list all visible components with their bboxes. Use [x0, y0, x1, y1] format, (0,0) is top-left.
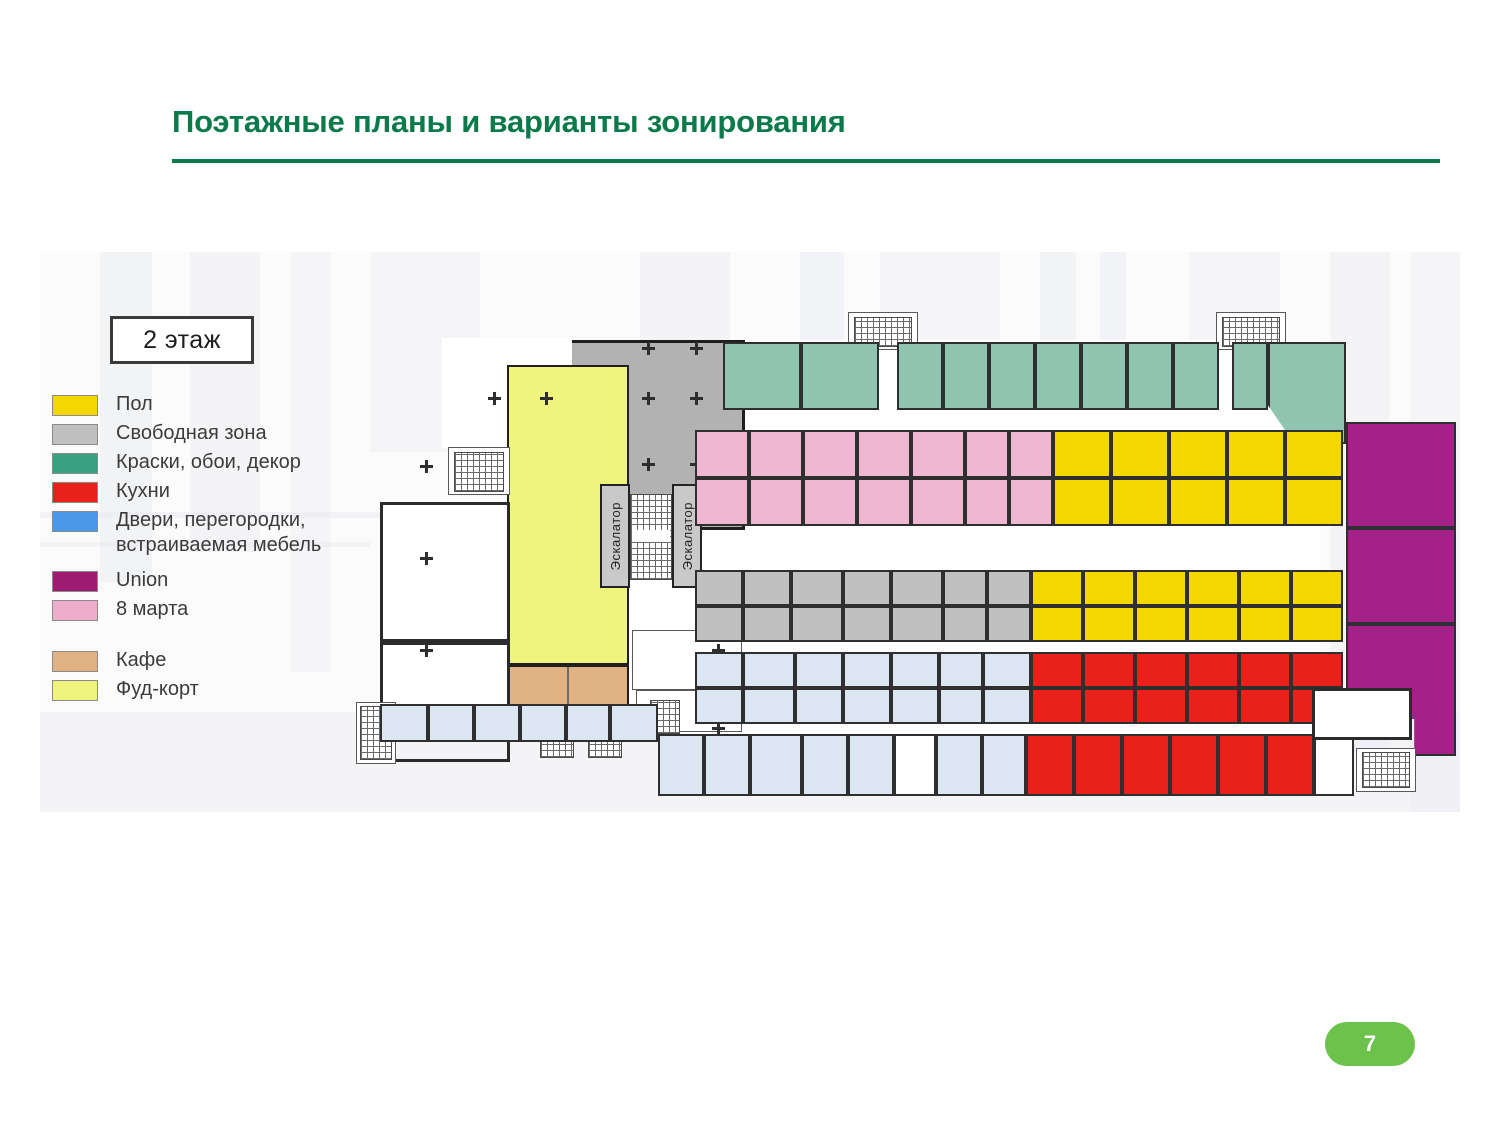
- unit-kraski[interactable]: [1173, 342, 1219, 410]
- unit-dveri[interactable]: [610, 704, 658, 742]
- escalator-2-label: Эскалатор: [680, 502, 695, 570]
- legend-divider-gap: [52, 626, 362, 648]
- legend-label-dveri: Двери, перегородки, встраиваемая мебель: [116, 508, 354, 558]
- unit-kraski[interactable]: [1127, 342, 1173, 410]
- unit-pol[interactable]: [1111, 478, 1169, 526]
- unit-kuhni[interactable]: [1291, 652, 1343, 688]
- unit-8marta[interactable]: [695, 478, 749, 526]
- legend-label-svobodnaya-zona: Свободная зона: [116, 421, 267, 446]
- unit-svobodnaya[interactable]: [695, 606, 743, 642]
- unit-kraski[interactable]: [1035, 342, 1081, 410]
- legend-label-kraski: Краски, обои, декор: [116, 450, 301, 475]
- legend-swatch-dveri: [52, 511, 98, 532]
- legend-swatch-8marta: [52, 600, 98, 621]
- column-marker: [642, 392, 655, 405]
- column-marker: [420, 644, 433, 657]
- unit-kuhni[interactable]: [1026, 734, 1074, 796]
- unit-8marta[interactable]: [965, 430, 1009, 478]
- unit-pol[interactable]: [1187, 570, 1239, 606]
- legend-item-dveri: Двери, перегородки, встраиваемая мебель: [52, 508, 362, 558]
- unit-kuhni[interactable]: [1266, 734, 1314, 796]
- column-marker: [488, 392, 501, 405]
- unit-svobodnaya[interactable]: [695, 570, 743, 606]
- unit-svobodnaya[interactable]: [791, 606, 843, 642]
- legend: Пол Свободная зона Краски, обои, декор К…: [52, 392, 362, 706]
- page-title: Поэтажные планы и варианты зонирования: [172, 104, 846, 140]
- escalator-landing: [632, 530, 670, 542]
- legend-item-8marta: 8 марта: [52, 597, 362, 622]
- unit-svobodnaya[interactable]: [743, 606, 791, 642]
- bottom-right-service-block: [1312, 688, 1412, 740]
- unit-kraski[interactable]: [801, 342, 879, 410]
- unit-dveri[interactable]: [750, 734, 802, 796]
- unit-svobodnaya[interactable]: [891, 570, 943, 606]
- unit-pol[interactable]: [1053, 430, 1111, 478]
- legend-item-union: Union: [52, 568, 362, 593]
- unit-dveri[interactable]: [743, 688, 795, 724]
- column-marker: [690, 392, 703, 405]
- unit-8marta[interactable]: [803, 430, 857, 478]
- unit-8marta[interactable]: [911, 478, 965, 526]
- unit-8marta[interactable]: [1009, 430, 1053, 478]
- unit-kuhni[interactable]: [1170, 734, 1218, 796]
- escalator-1: Эскалатор: [600, 484, 630, 588]
- unit-vacant-white[interactable]: [1314, 734, 1354, 796]
- unit-dveri[interactable]: [939, 652, 983, 688]
- core-walls-a: [380, 502, 510, 642]
- unit-kuhni[interactable]: [1122, 734, 1170, 796]
- unit-dveri[interactable]: [891, 652, 939, 688]
- unit-dveri[interactable]: [983, 688, 1031, 724]
- unit-svobodnaya[interactable]: [891, 606, 943, 642]
- unit-8marta[interactable]: [749, 430, 803, 478]
- unit-dveri[interactable]: [474, 704, 520, 742]
- unit-8marta[interactable]: [911, 430, 965, 478]
- unit-kuhni[interactable]: [1135, 688, 1187, 724]
- stair-hatch-left: [454, 452, 504, 492]
- unit-svobodnaya[interactable]: [743, 570, 791, 606]
- unit-dveri[interactable]: [743, 652, 795, 688]
- title-underline: [172, 159, 1440, 163]
- unit-dveri[interactable]: [658, 734, 704, 796]
- unit-dveri[interactable]: [983, 652, 1031, 688]
- column-marker: [420, 552, 433, 565]
- legend-swatch-fud-kort: [52, 680, 98, 701]
- unit-pol[interactable]: [1239, 606, 1291, 642]
- unit-pol[interactable]: [1239, 570, 1291, 606]
- column-marker: [690, 342, 703, 355]
- unit-dveri[interactable]: [802, 734, 848, 796]
- legend-label-8marta: 8 марта: [116, 597, 188, 622]
- unit-kuhni[interactable]: [1218, 734, 1266, 796]
- unit-kuhni[interactable]: [1135, 652, 1187, 688]
- unit-8marta[interactable]: [965, 478, 1009, 526]
- unit-pol[interactable]: [1291, 606, 1343, 642]
- legend-item-pol: Пол: [52, 392, 362, 417]
- unit-kuhni[interactable]: [1239, 688, 1291, 724]
- unit-kraski[interactable]: [897, 342, 943, 410]
- legend-item-fud-kort: Фуд-корт: [52, 677, 362, 702]
- column-marker: [642, 342, 655, 355]
- unit-dveri[interactable]: [795, 652, 843, 688]
- column-marker: [420, 460, 433, 473]
- unit-dveri[interactable]: [695, 652, 743, 688]
- unit-8marta[interactable]: [857, 430, 911, 478]
- legend-item-kraski: Краски, обои, декор: [52, 450, 362, 475]
- unit-pol[interactable]: [1031, 570, 1083, 606]
- unit-pol[interactable]: [1083, 606, 1135, 642]
- unit-pol[interactable]: [1285, 430, 1343, 478]
- unit-kuhni[interactable]: [1187, 652, 1239, 688]
- unit-vacant-white[interactable]: [894, 734, 936, 796]
- unit-dveri[interactable]: [848, 734, 894, 796]
- unit-dveri[interactable]: [428, 704, 474, 742]
- legend-label-fud-kort: Фуд-корт: [116, 677, 199, 702]
- stair-hatch-bottomright: [1362, 752, 1410, 788]
- legend-swatch-pol: [52, 395, 98, 416]
- unit-8marta[interactable]: [749, 478, 803, 526]
- column-marker: [540, 392, 553, 405]
- legend-label-kuhni: Кухни: [116, 479, 170, 504]
- unit-dveri[interactable]: [520, 704, 566, 742]
- unit-svobodnaya[interactable]: [791, 570, 843, 606]
- unit-kuhni[interactable]: [1031, 652, 1083, 688]
- legend-swatch-kuhni: [52, 482, 98, 503]
- unit-kuhni[interactable]: [1083, 688, 1135, 724]
- unit-pol[interactable]: [1031, 606, 1083, 642]
- unit-dveri[interactable]: [695, 688, 743, 724]
- unit-kuhni[interactable]: [1031, 688, 1083, 724]
- unit-dveri[interactable]: [843, 652, 891, 688]
- unit-kraski[interactable]: [1081, 342, 1127, 410]
- unit-svobodnaya[interactable]: [943, 606, 987, 642]
- unit-pol[interactable]: [1053, 478, 1111, 526]
- unit-kraski[interactable]: [1232, 342, 1268, 410]
- legend-swatch-svobodnaya-zona: [52, 424, 98, 445]
- page-number-badge: 7: [1325, 1022, 1415, 1066]
- column-marker: [642, 458, 655, 471]
- unit-kuhni[interactable]: [1083, 652, 1135, 688]
- legend-swatch-kraski: [52, 453, 98, 474]
- unit-kuhni[interactable]: [1074, 734, 1122, 796]
- unit-pol[interactable]: [1187, 606, 1239, 642]
- legend-swatch-kafe: [52, 651, 98, 672]
- unit-pol[interactable]: [1135, 606, 1187, 642]
- unit-kuhni[interactable]: [1187, 688, 1239, 724]
- unit-pol[interactable]: [1169, 430, 1227, 478]
- unit-kraski[interactable]: [943, 342, 989, 410]
- unit-pol[interactable]: [1169, 478, 1227, 526]
- unit-svobodnaya[interactable]: [843, 606, 891, 642]
- unit-svobodnaya[interactable]: [987, 570, 1031, 606]
- unit-pol[interactable]: [1111, 430, 1169, 478]
- unit-8marta[interactable]: [857, 478, 911, 526]
- escalator-1-label: Эскалатор: [608, 502, 623, 570]
- core-walls-b: [380, 642, 510, 762]
- unit-8marta[interactable]: [695, 430, 749, 478]
- unit-kraski[interactable]: [989, 342, 1035, 410]
- legend-item-kafe: Кафе: [52, 648, 362, 673]
- unit-dveri[interactable]: [982, 734, 1026, 796]
- unit-dveri[interactable]: [380, 704, 428, 742]
- unit-dveri[interactable]: [939, 688, 983, 724]
- unit-kuhni[interactable]: [1239, 652, 1291, 688]
- unit-kraski[interactable]: [723, 342, 801, 410]
- unit-dveri[interactable]: [891, 688, 939, 724]
- legend-label-pol: Пол: [116, 392, 153, 417]
- unit-pol[interactable]: [1135, 570, 1187, 606]
- unit-svobodnaya[interactable]: [843, 570, 891, 606]
- unit-dveri[interactable]: [566, 704, 610, 742]
- unit-pol[interactable]: [1227, 478, 1285, 526]
- unit-svobodnaya[interactable]: [987, 606, 1031, 642]
- legend-item-svobodnaya-zona: Свободная зона: [52, 421, 362, 446]
- unit-pol[interactable]: [1285, 478, 1343, 526]
- unit-pol[interactable]: [1227, 430, 1285, 478]
- unit-pol[interactable]: [1083, 570, 1135, 606]
- unit-union[interactable]: [1346, 528, 1456, 624]
- floor-badge: 2 этаж: [110, 316, 254, 364]
- unit-dveri[interactable]: [704, 734, 750, 796]
- unit-dveri[interactable]: [843, 688, 891, 724]
- legend-label-kafe: Кафе: [116, 648, 166, 673]
- unit-svobodnaya[interactable]: [943, 570, 987, 606]
- legend-swatch-union: [52, 571, 98, 592]
- unit-dveri[interactable]: [795, 688, 843, 724]
- unit-dveri[interactable]: [936, 734, 982, 796]
- unit-union[interactable]: [1346, 422, 1456, 528]
- unit-8marta[interactable]: [803, 478, 857, 526]
- unit-pol[interactable]: [1291, 570, 1343, 606]
- legend-item-kuhni: Кухни: [52, 479, 362, 504]
- legend-label-union: Union: [116, 568, 168, 593]
- unit-8marta[interactable]: [1009, 478, 1053, 526]
